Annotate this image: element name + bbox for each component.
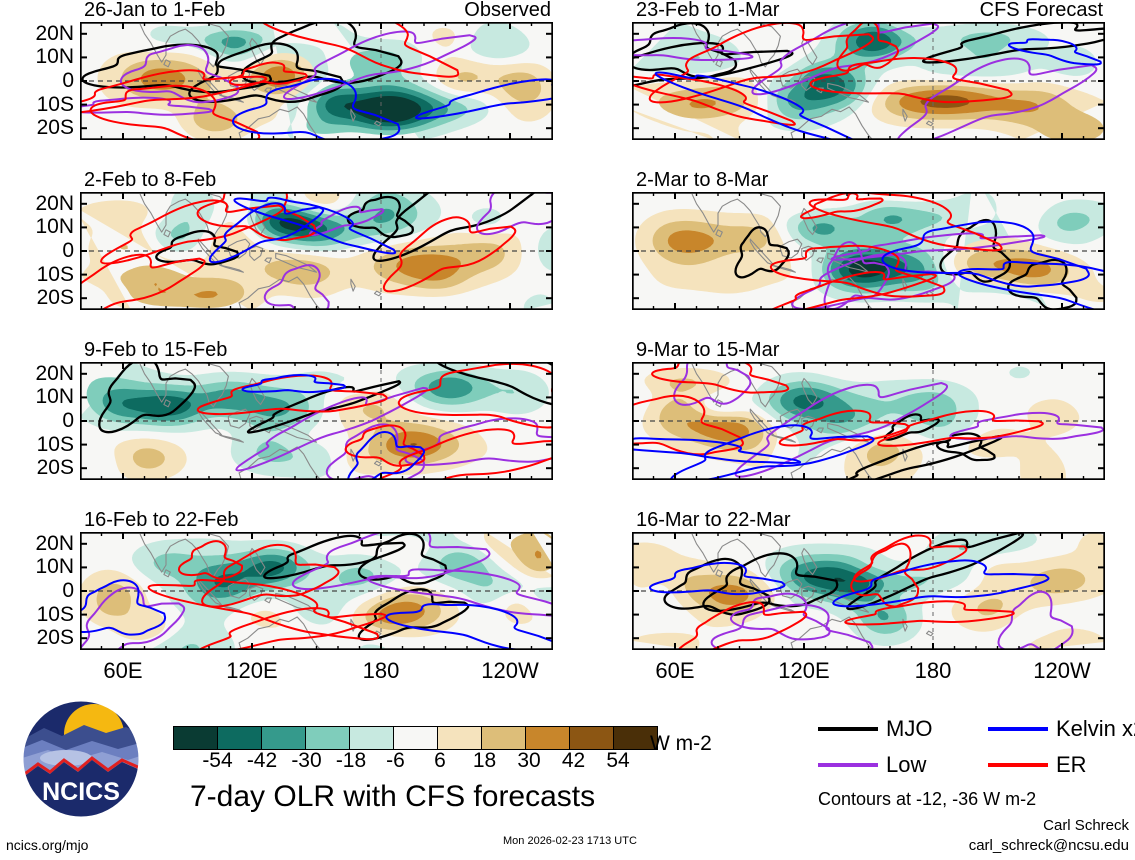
panel-title: 16-Mar to 22-Mar xyxy=(636,510,791,530)
y-tick-label: 10S xyxy=(0,264,74,285)
plot-area xyxy=(80,532,553,650)
olr-forecast-figure: 26-Jan to 1-FebObserved23-Feb to 1-MarCF… xyxy=(0,0,1135,860)
legend-swatch-line xyxy=(988,763,1048,767)
panel-2-feb-to-8-feb: 2-Feb to 8-Feb xyxy=(80,170,553,310)
y-tick-label: 10S xyxy=(0,94,74,115)
x-tick-label: 180 xyxy=(341,660,421,682)
y-tick-label: 10N xyxy=(0,216,74,237)
legend-label: MJO xyxy=(886,716,932,742)
legend-label: Low xyxy=(886,752,926,778)
y-tick-label: 10S xyxy=(0,604,74,625)
colorbar-swatch xyxy=(394,727,438,749)
y-tick-label: 20S xyxy=(0,627,74,648)
legend-label: Kelvin x2 xyxy=(1056,716,1135,742)
author-name: Carl Schreck xyxy=(0,818,1129,834)
plot-area xyxy=(80,362,553,480)
y-tick-label: 10N xyxy=(0,46,74,67)
x-tick-label: 60E xyxy=(83,660,163,682)
generation-timestamp: Mon 2026-02-23 1713 UTC xyxy=(503,836,637,847)
x-tick-label: 120E xyxy=(212,660,292,682)
figure-title: 7-day OLR with CFS forecasts xyxy=(190,782,595,812)
plot-area xyxy=(80,192,553,310)
column-header: CFS Forecast xyxy=(980,0,1103,20)
legend-swatch-line xyxy=(818,727,878,731)
x-tick-label: 120E xyxy=(764,660,844,682)
legend-swatch-line xyxy=(818,763,878,767)
panel-title: 2-Feb to 8-Feb xyxy=(84,170,216,190)
colorbar-swatch xyxy=(306,727,350,749)
logo-text: NCICS xyxy=(42,778,120,806)
y-tick-label: 20S xyxy=(0,117,74,138)
panel-26-jan-to-1-feb: 26-Jan to 1-FebObserved xyxy=(80,0,553,140)
legend-label: ER xyxy=(1056,752,1087,778)
panel-16-mar-to-22-mar: 16-Mar to 22-Mar xyxy=(632,510,1105,650)
colorbar-swatch xyxy=(218,727,262,749)
panel-9-feb-to-15-feb: 9-Feb to 15-Feb xyxy=(80,340,553,480)
y-tick-label: 0 xyxy=(0,410,74,431)
panel-9-mar-to-15-mar: 9-Mar to 15-Mar xyxy=(632,340,1105,480)
plot-area xyxy=(632,532,1105,650)
y-tick-label: 0 xyxy=(0,70,74,91)
panel-16-feb-to-22-feb: 16-Feb to 22-Feb xyxy=(80,510,553,650)
colorbar-swatch xyxy=(350,727,394,749)
plot-area xyxy=(632,22,1105,140)
y-tick-label: 20N xyxy=(0,193,74,214)
colorbar xyxy=(173,726,658,750)
panel-2-mar-to-8-mar: 2-Mar to 8-Mar xyxy=(632,170,1105,310)
x-tick-label: 120W xyxy=(470,660,550,682)
colorbar-swatch xyxy=(262,727,306,749)
panel-title: 9-Feb to 15-Feb xyxy=(84,340,227,360)
y-tick-label: 20N xyxy=(0,363,74,384)
panel-title: 9-Mar to 15-Mar xyxy=(636,340,779,360)
column-header: Observed xyxy=(464,0,551,20)
colorbar-swatch xyxy=(526,727,570,749)
panel-title: 16-Feb to 22-Feb xyxy=(84,510,239,530)
plot-area xyxy=(632,192,1105,310)
y-tick-label: 20S xyxy=(0,287,74,308)
y-tick-label: 0 xyxy=(0,240,74,261)
y-tick-label: 20S xyxy=(0,457,74,478)
colorbar-swatch xyxy=(174,727,218,749)
y-tick-label: 20N xyxy=(0,533,74,554)
colorbar-tick-label: 54 xyxy=(588,750,648,771)
colorbar-swatch xyxy=(438,727,482,749)
y-tick-label: 0 xyxy=(0,580,74,601)
legend-swatch-line xyxy=(988,727,1048,731)
y-tick-label: 10N xyxy=(0,386,74,407)
colorbar-units-label: W m-2 xyxy=(650,732,712,756)
x-tick-label: 180 xyxy=(893,660,973,682)
panel-title: 23-Feb to 1-Mar xyxy=(636,0,779,20)
panel-title: 2-Mar to 8-Mar xyxy=(636,170,768,190)
colorbar-swatch xyxy=(570,727,614,749)
plot-area xyxy=(632,362,1105,480)
panel-title: 26-Jan to 1-Feb xyxy=(84,0,225,20)
site-url: ncics.org/mjo xyxy=(6,838,88,852)
x-tick-label: 120W xyxy=(1022,660,1102,682)
y-tick-label: 10S xyxy=(0,434,74,455)
plot-area xyxy=(80,22,553,140)
y-tick-label: 20N xyxy=(0,23,74,44)
contour-legend: MJOKelvin x2LowER xyxy=(818,716,1128,786)
colorbar-swatch xyxy=(482,727,526,749)
y-tick-label: 10N xyxy=(0,556,74,577)
panel-23-feb-to-1-mar: 23-Feb to 1-MarCFS Forecast xyxy=(632,0,1105,140)
contour-note: Contours at -12, -36 W m-2 xyxy=(818,790,1036,808)
ncics-logo: NCICS xyxy=(22,700,140,818)
x-tick-label: 60E xyxy=(635,660,715,682)
